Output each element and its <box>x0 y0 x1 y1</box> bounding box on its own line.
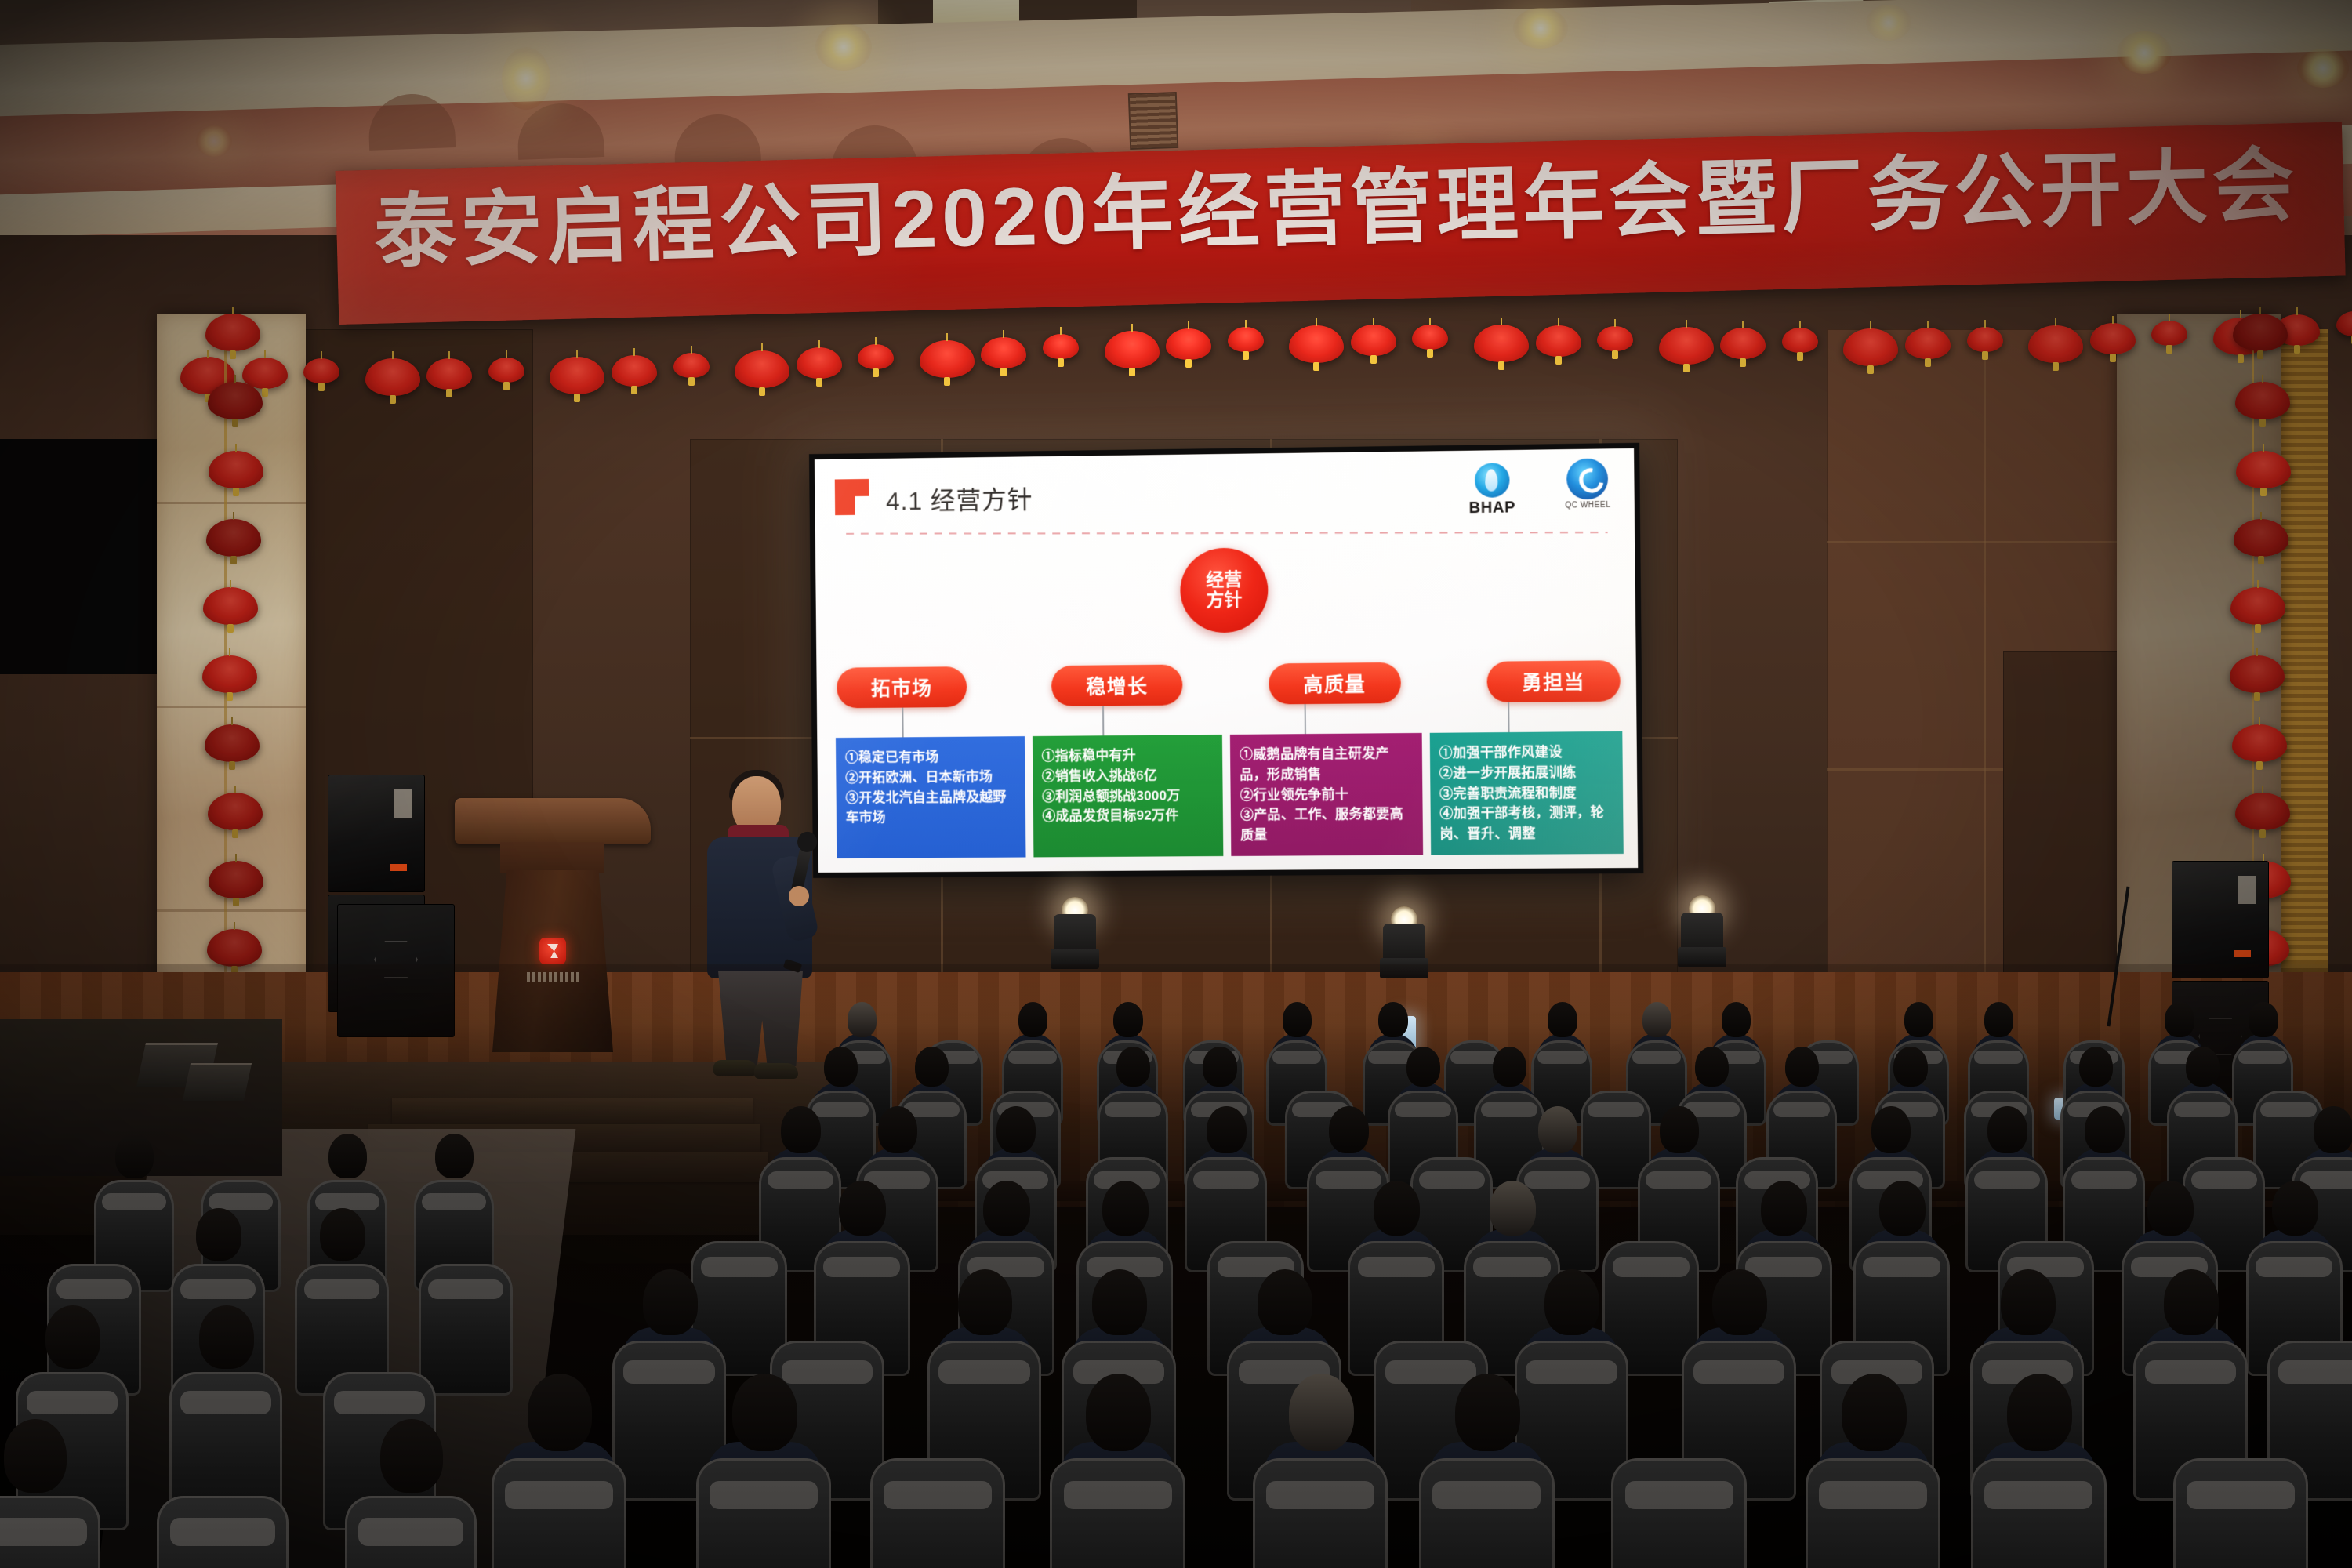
lantern <box>208 793 263 830</box>
audience-member-head <box>199 1305 253 1369</box>
audience-member-head <box>2079 1047 2113 1087</box>
auditorium-seat[interactable] <box>870 1458 1006 1568</box>
bhap-logo: BHAP <box>1468 463 1515 517</box>
lantern <box>1228 327 1264 352</box>
podium-top <box>455 798 651 844</box>
audience-member-head <box>2164 1269 2219 1334</box>
box-line: ②行业领先争前十 <box>1240 784 1412 805</box>
audience-member-head <box>1785 1047 1819 1087</box>
box-line: ①指标稳中有升 <box>1041 745 1213 766</box>
audience-member-head <box>839 1181 885 1236</box>
slide-title: 4.1 经营方针 <box>886 480 1033 517</box>
pillar-seam <box>157 502 306 504</box>
auditorium-seat[interactable] <box>696 1458 832 1568</box>
audience-member-head <box>1871 1106 1911 1153</box>
box-line: ④加强干部考核，测评，轮岗、晋升、调整 <box>1439 803 1613 844</box>
audience-member-head <box>1987 1106 2027 1153</box>
lantern <box>797 347 842 379</box>
lantern <box>1597 326 1633 351</box>
audience-member-head <box>781 1106 820 1153</box>
conference-hall-photo: 泰安启程公司2020年经营管理年会暨厂务公开大会 4.1 经营方针 BHAP <box>0 0 2352 1568</box>
box-line: ③开发北汽自主品牌及越野车市场 <box>845 787 1015 829</box>
audience-member-head <box>2186 1047 2220 1087</box>
auditorium-seat[interactable] <box>419 1264 513 1396</box>
podium-emblem-icon <box>539 938 566 964</box>
lantern <box>205 314 260 351</box>
lantern <box>206 519 261 557</box>
pa-speaker-top <box>328 775 425 892</box>
ceiling-vent <box>1128 92 1178 150</box>
audience-member-head <box>435 1134 474 1178</box>
content-box-row: ①稳定已有市场 ②开拓欧洲、日本新市场 ③开发北汽自主品牌及越野车市场 ①指标稳… <box>836 731 1624 858</box>
audience-member-head <box>380 1419 444 1493</box>
lantern <box>208 382 263 419</box>
pill-steady-growth: 稳增长 <box>1051 664 1183 706</box>
audience-member-head <box>1283 1002 1312 1037</box>
lantern <box>2233 314 2288 351</box>
audience-member-head <box>1116 1047 1150 1087</box>
lantern <box>1536 325 1581 357</box>
connector-stem <box>1508 702 1509 735</box>
lantern <box>1474 325 1529 362</box>
audience-member-head <box>2085 1106 2124 1153</box>
audience-member-head <box>848 1002 877 1037</box>
pillar-seam <box>157 909 306 912</box>
content-box-market: ①稳定已有市场 ②开拓欧洲、日本新市场 ③开发北汽自主品牌及越野车市场 <box>836 736 1025 858</box>
lantern <box>203 587 258 625</box>
box-line: ③完善职责流程和制度 <box>1439 782 1613 804</box>
lantern <box>673 353 710 378</box>
audience-member-head <box>1455 1374 1520 1451</box>
audience-member-head <box>115 1134 154 1178</box>
audience-member-head <box>1374 1181 1420 1236</box>
policy-hub-circle: 经营 方针 <box>1180 547 1269 633</box>
presenter-hand <box>789 886 809 906</box>
projection-screen[interactable]: 4.1 经营方针 BHAP QC WHEEL 经营 方针 拓市场 稳增长 高质量 <box>809 443 1643 878</box>
lantern <box>2236 451 2291 488</box>
audience-member-head <box>1722 1002 1751 1037</box>
dark-alcove <box>0 439 157 674</box>
audience-member-head <box>983 1181 1029 1236</box>
audience-member-head <box>196 1208 241 1261</box>
stage-light <box>1678 892 1726 967</box>
lantern <box>202 655 257 693</box>
auditorium-seat[interactable] <box>157 1496 289 1568</box>
lantern <box>1043 334 1079 359</box>
box-line: ②进一步开展拓展训练 <box>1439 762 1613 784</box>
bhap-mark-icon <box>1475 463 1510 498</box>
content-box-responsibility: ①加强干部作风建设 ②进一步开展拓展训练 ③完善职责流程和制度 ④加强干部考核，… <box>1429 731 1624 855</box>
pill-take-responsibility: 勇担当 <box>1486 660 1620 702</box>
auditorium-seat[interactable] <box>1806 1458 1941 1568</box>
audience-member-head <box>4 1419 67 1493</box>
lantern <box>303 358 339 383</box>
auditorium-seat[interactable] <box>345 1496 477 1568</box>
lantern <box>1782 328 1818 353</box>
audience-member-head <box>2272 1181 2318 1236</box>
box-line: ②开拓欧洲、日本新市场 <box>845 767 1015 788</box>
auditorium-seat[interactable] <box>1971 1458 2107 1568</box>
lantern <box>1905 328 1951 359</box>
banner-shadow <box>1903 122 2346 286</box>
audience-member-head <box>1490 1181 1536 1236</box>
lantern <box>1967 327 2003 352</box>
lantern <box>2230 587 2285 625</box>
audience-member-head <box>1984 1002 2013 1037</box>
lantern <box>1289 325 1344 363</box>
lantern <box>209 861 263 898</box>
lantern <box>1659 327 1714 365</box>
ceiling-downlight <box>1513 8 1568 49</box>
audience-member-head <box>1544 1269 1599 1334</box>
connector-stem <box>1102 706 1104 739</box>
audience-member-head <box>878 1106 917 1153</box>
audience-member-head <box>328 1134 367 1178</box>
audience-member-head <box>1203 1047 1236 1087</box>
audience-member-head <box>1642 1002 1671 1037</box>
ceiling-pendant <box>502 47 550 110</box>
audience-member-head <box>1904 1002 1933 1037</box>
box-line: ②销售收入挑战6亿 <box>1042 765 1214 786</box>
laptop[interactable] <box>183 1063 252 1101</box>
red-flag-icon <box>835 479 869 515</box>
lantern <box>2235 382 2290 419</box>
banner-title: 泰安启程公司2020年经营管理年会暨厂务公开大会 <box>373 143 2336 276</box>
audience-member-head <box>1113 1002 1142 1037</box>
lantern <box>1166 328 1211 360</box>
qc-wheel-logo: QC WHEEL <box>1565 458 1611 510</box>
slide-content: 4.1 经营方针 BHAP QC WHEEL 经营 方针 拓市场 稳增长 高质量 <box>815 448 1638 873</box>
audience-member-head <box>1102 1181 1149 1236</box>
qc-logo-text: QC WHEEL <box>1565 501 1610 510</box>
ceiling-downlight <box>2117 31 2172 74</box>
box-line: ③产品、工作、服务都要高质量 <box>1240 804 1414 846</box>
pill-high-quality: 高质量 <box>1269 662 1401 705</box>
lantern <box>612 355 657 387</box>
audience-member-head <box>45 1305 100 1369</box>
auditorium-seat[interactable] <box>0 1496 100 1568</box>
ceiling-downlight <box>196 125 232 157</box>
lantern <box>2151 321 2187 346</box>
audience-member-head <box>958 1269 1013 1334</box>
pillar-seam <box>157 706 306 708</box>
auditorium-seat[interactable] <box>1611 1458 1747 1568</box>
content-box-quality: ①威鹅品牌有自主研发产品，形成销售 ②行业领先争前十 ③产品、工作、服务都要高质… <box>1230 733 1423 856</box>
audience-member-head <box>1538 1106 1577 1153</box>
lantern <box>209 451 263 488</box>
audience-member-head <box>643 1269 698 1334</box>
audience-member-head <box>1712 1269 1767 1334</box>
ceiling-downlight <box>815 24 872 71</box>
audience-member-head <box>2007 1374 2072 1451</box>
podium-neck <box>500 842 604 873</box>
audience-member-head <box>1018 1002 1047 1037</box>
lantern <box>207 929 262 967</box>
stage-light <box>1051 894 1099 969</box>
audience-member-head <box>1548 1002 1577 1037</box>
box-line: ①稳定已有市场 <box>845 746 1015 768</box>
audience-member-head <box>996 1106 1036 1153</box>
audience-member-head <box>1329 1106 1368 1153</box>
lantern <box>365 358 420 396</box>
audience-member-head <box>1258 1269 1312 1334</box>
audience-member-head <box>732 1374 797 1451</box>
connector-stem <box>902 708 903 741</box>
lantern <box>2028 325 2083 363</box>
auditorium-seat[interactable] <box>1253 1458 1388 1568</box>
auditorium-seat[interactable] <box>1419 1458 1555 1568</box>
lantern <box>426 358 472 390</box>
lantern <box>1351 325 1396 356</box>
hub-line-1: 经营 <box>1206 570 1242 590</box>
bhap-logo-text: BHAP <box>1469 499 1515 517</box>
audience-member-head <box>1289 1374 1354 1451</box>
audience-member-head <box>2147 1181 2194 1236</box>
ceiling-downlight <box>2297 49 2349 88</box>
slide-header: 4.1 经营方针 BHAP QC WHEEL <box>815 448 1635 534</box>
audience-member-head <box>1086 1374 1151 1451</box>
connector-stem <box>1305 704 1306 737</box>
audience-member-head <box>1092 1269 1147 1334</box>
audience-member-head <box>1842 1374 1907 1451</box>
pill-row: 拓市场 稳增长 高质量 勇担当 <box>837 660 1621 708</box>
audience-member-head <box>1660 1106 1699 1153</box>
audience-member-head <box>2249 1002 2278 1037</box>
qc-mark-icon <box>1566 458 1608 499</box>
audience-member-head <box>1493 1047 1526 1087</box>
lantern <box>1105 331 1160 368</box>
audience-member-head <box>2314 1106 2352 1153</box>
lantern <box>2230 655 2285 693</box>
audience-member-head <box>1207 1106 1246 1153</box>
ceiling-downlight <box>1866 5 1911 41</box>
content-box-growth: ①指标稳中有升 ②销售收入挑战6亿 ③利润总额挑战3000万 ④成品发货目标92… <box>1032 735 1223 858</box>
audience-member-head <box>1893 1047 1927 1087</box>
audience-member-head <box>1406 1047 1440 1087</box>
lantern <box>1412 325 1448 350</box>
pill-expand-market: 拓市场 <box>837 666 967 708</box>
audience-member-head <box>2001 1269 2056 1334</box>
box-line: ①威鹅品牌有自主研发产品，形成销售 <box>1240 743 1413 785</box>
pa-led-indicator <box>2234 950 2251 957</box>
lantern <box>2090 323 2136 354</box>
slide-divider <box>846 532 1607 535</box>
lantern <box>488 358 524 383</box>
hub-line-2: 方针 <box>1206 590 1242 611</box>
auditorium-seat[interactable] <box>2173 1458 2309 1568</box>
pa-speaker-top <box>2172 861 2269 978</box>
audience-member-head <box>1378 1002 1407 1037</box>
audience-member-head <box>1761 1181 1807 1236</box>
audience-member-head <box>2165 1002 2194 1037</box>
audience-member-head <box>320 1208 365 1261</box>
audience-member-head <box>528 1374 593 1451</box>
auditorium-seat[interactable] <box>1050 1458 1185 1568</box>
pa-led-indicator <box>390 864 407 871</box>
lantern <box>1720 328 1766 359</box>
box-line: ④成品发货目标92万件 <box>1042 806 1214 827</box>
audience-member-head <box>915 1047 949 1087</box>
box-line: ①加强干部作风建设 <box>1439 742 1613 764</box>
box-line: ③利润总额挑战3000万 <box>1042 786 1214 807</box>
lantern <box>2234 519 2288 557</box>
audience-member-head <box>1879 1181 1926 1236</box>
lantern <box>2235 793 2290 830</box>
auditorium-seat[interactable] <box>492 1458 627 1568</box>
audience-member-head <box>824 1047 858 1087</box>
lantern <box>920 340 975 378</box>
panel-seam <box>1984 329 1986 1066</box>
audience-member-head <box>1695 1047 1729 1087</box>
